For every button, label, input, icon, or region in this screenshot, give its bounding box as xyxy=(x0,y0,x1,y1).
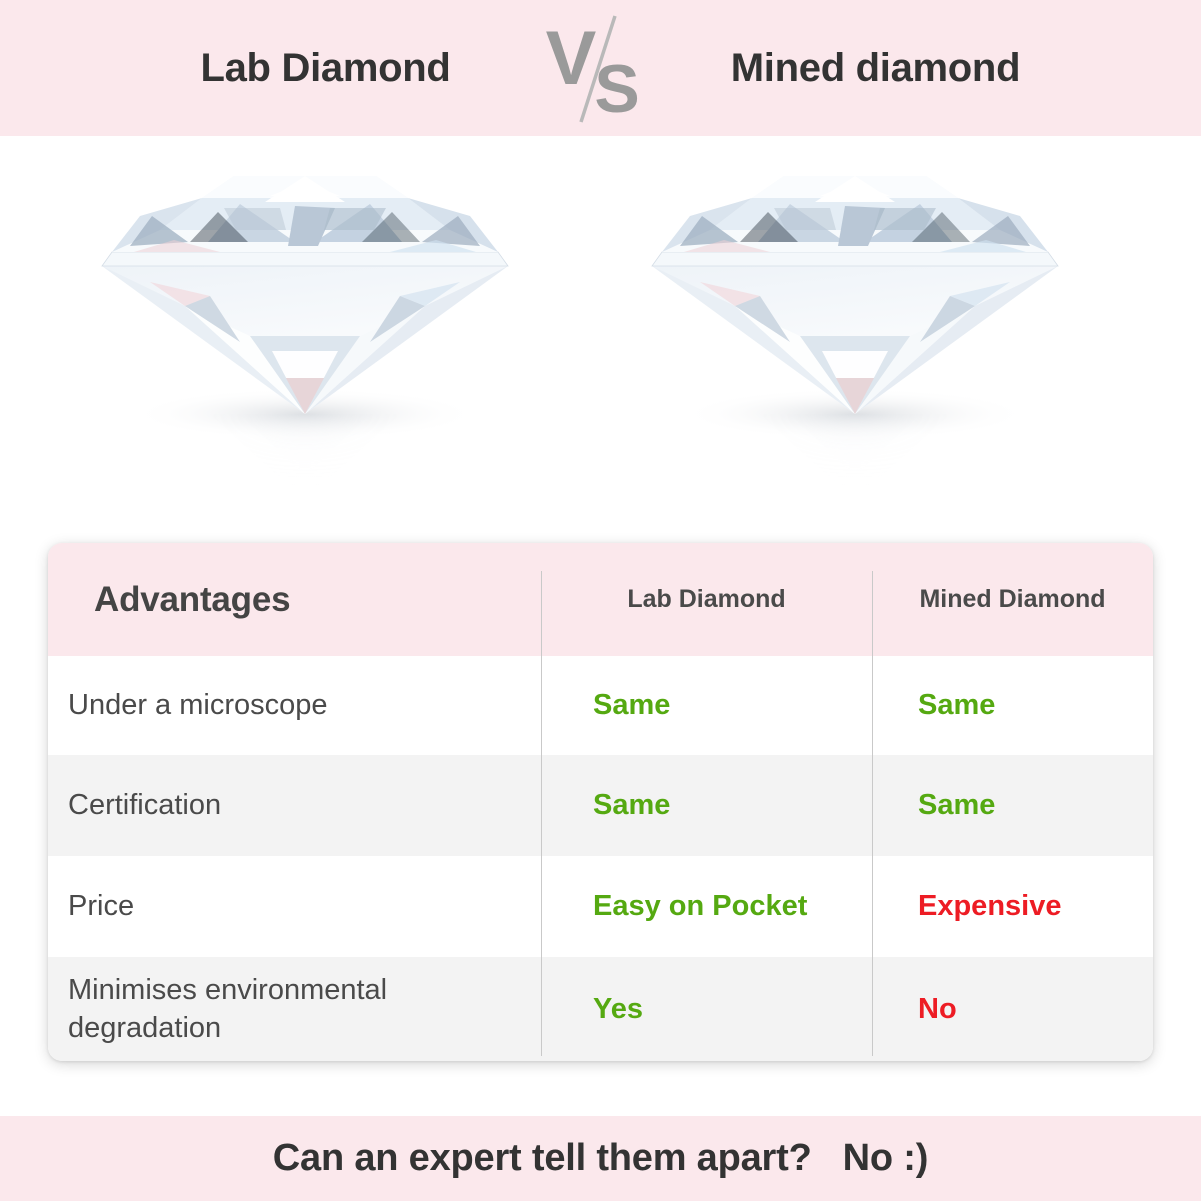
row-value-mined: Expensive xyxy=(872,889,1153,924)
row-value-lab: Easy on Pocket xyxy=(541,889,872,924)
row-label: Under a microscope xyxy=(48,686,541,724)
table-row: Under a microscope Same Same xyxy=(48,656,1153,755)
row-value-lab: Yes xyxy=(541,992,872,1027)
table-body: Under a microscope Same Same Certificati… xyxy=(48,656,1153,1061)
row-label: Price xyxy=(48,887,541,925)
row-label: Minimises environmental degradation xyxy=(48,971,541,1048)
diamond-icon xyxy=(640,146,1070,526)
vs-badge: V S xyxy=(541,8,661,128)
svg-text:V: V xyxy=(545,16,596,101)
row-value-lab: Same xyxy=(541,688,872,723)
header-title-mined: Mined diamond xyxy=(661,46,1091,91)
row-value-lab: Same xyxy=(541,788,872,823)
header-band: Lab Diamond V S Mined diamond xyxy=(0,0,1201,136)
footer-band: Can an expert tell them apart? No :) xyxy=(0,1116,1201,1201)
table-row: Minimises environmental degradation Yes … xyxy=(48,957,1153,1061)
table-header-row: Advantages Lab Diamond Mined Diamond xyxy=(48,543,1153,656)
table-row: Certification Same Same xyxy=(48,755,1153,856)
row-value-mined: Same xyxy=(872,688,1153,723)
column-header-advantages: Advantages xyxy=(94,543,290,656)
column-header-mined-diamond: Mined Diamond xyxy=(872,543,1153,656)
row-value-mined: Same xyxy=(872,788,1153,823)
diamond-stage xyxy=(0,136,1201,536)
vs-icon: V S xyxy=(541,8,661,128)
infographic-page: Lab Diamond V S Mined diamond xyxy=(0,0,1201,1201)
footer-text: Can an expert tell them apart? No :) xyxy=(273,1137,928,1180)
diamond-image-lab xyxy=(90,146,520,526)
row-value-mined: No xyxy=(872,992,1153,1027)
table-row: Price Easy on Pocket Expensive xyxy=(48,856,1153,957)
diamond-image-mined xyxy=(640,146,1070,526)
diamond-icon xyxy=(90,146,520,526)
comparison-table-card: Advantages Lab Diamond Mined Diamond Und… xyxy=(48,543,1153,1061)
column-header-lab-diamond: Lab Diamond xyxy=(541,543,872,656)
row-label: Certification xyxy=(48,786,541,824)
header-title-lab: Lab Diamond xyxy=(111,46,541,91)
